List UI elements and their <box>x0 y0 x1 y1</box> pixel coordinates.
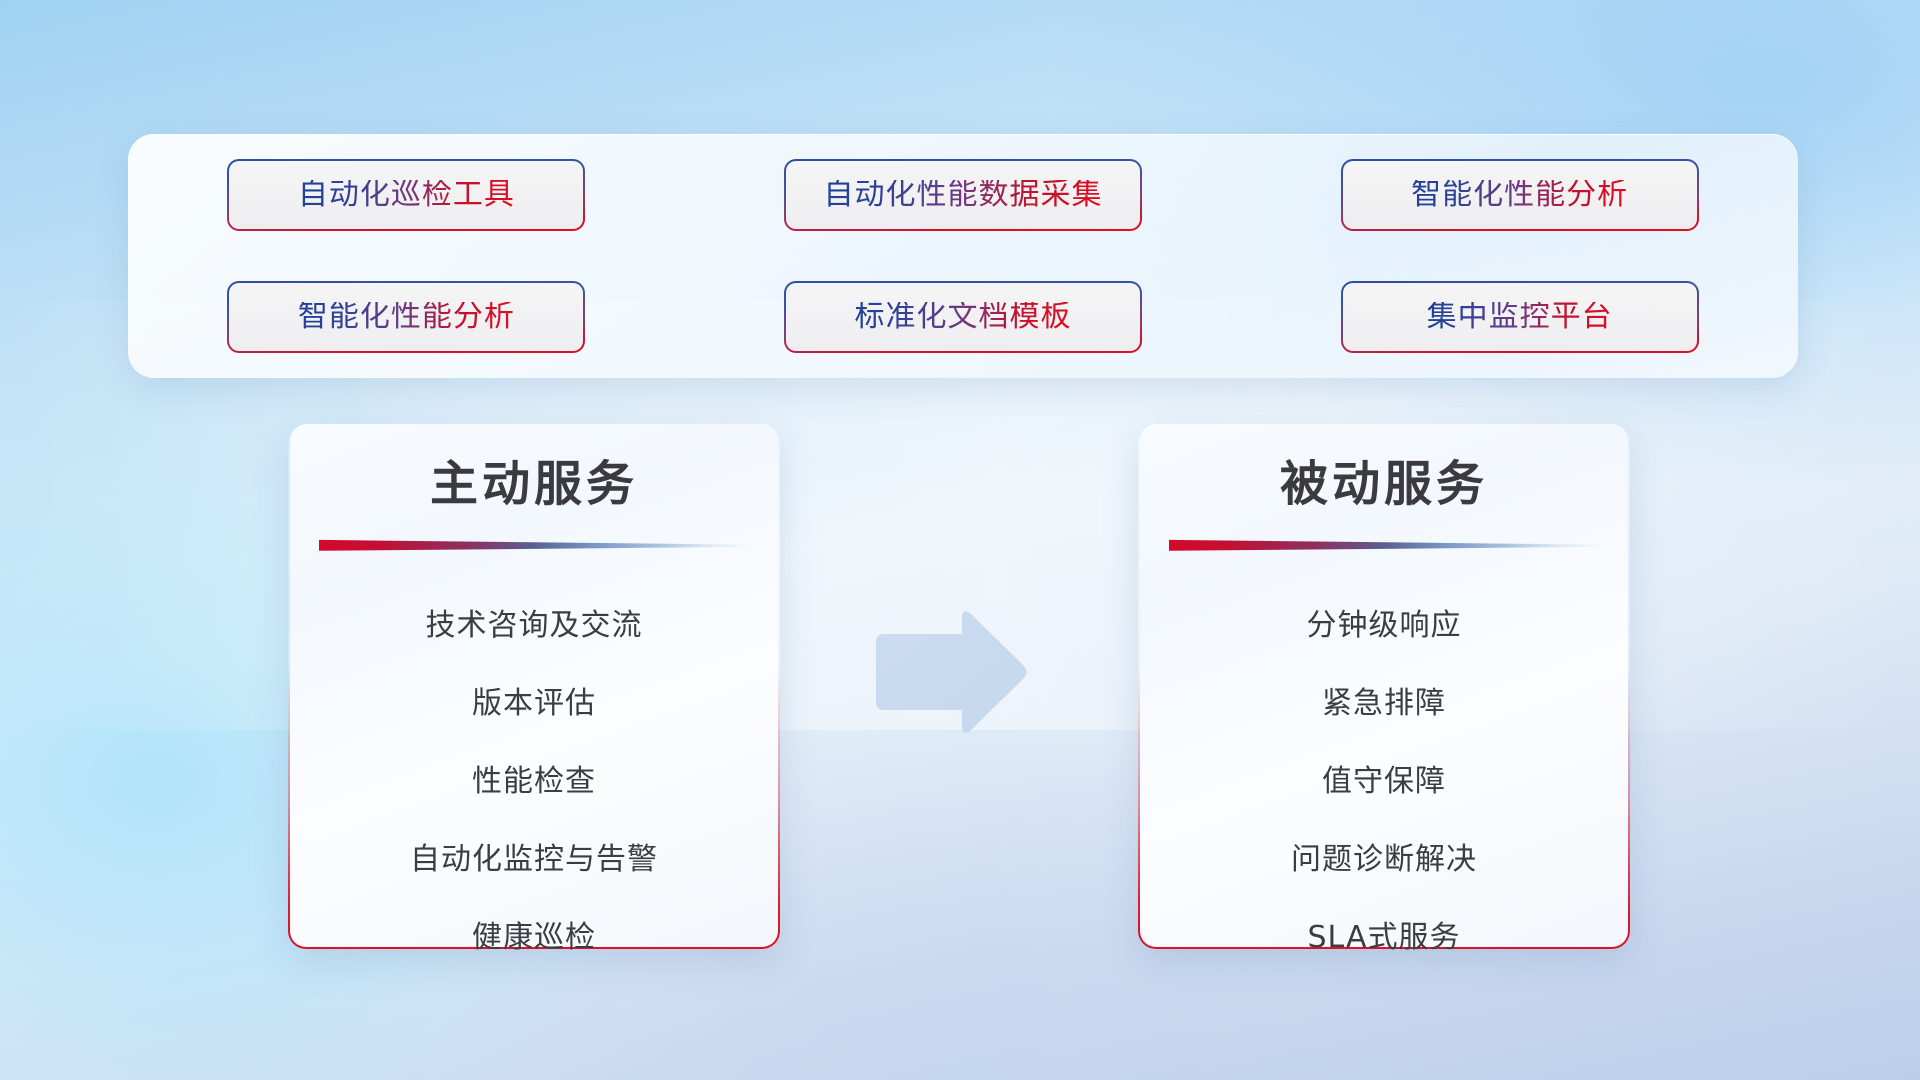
list-item: 自动化监控与告警 <box>290 831 778 889</box>
service-card-reactive: 被动服务 分钟级响应 紧急排障 值守保障 问题诊断解决 SLA式服务 <box>1138 424 1630 949</box>
service-item-list: 技术咨询及交流 版本评估 性能检查 自动化监控与告警 健康巡检 <box>290 597 778 967</box>
service-card-title: 主动服务 <box>290 458 778 511</box>
arrow-right-icon <box>870 608 1030 736</box>
list-item: 技术咨询及交流 <box>290 597 778 655</box>
infographic-stage: 自动化巡检工具 自动化性能数据采集 智能化性能分析 智能化性能分析 标准化文档模… <box>0 0 1920 1080</box>
service-item-list: 分钟级响应 紧急排障 值守保障 问题诊断解决 SLA式服务 <box>1140 597 1628 967</box>
title-divider <box>319 537 749 551</box>
list-item: 问题诊断解决 <box>1140 831 1628 889</box>
service-card-title: 被动服务 <box>1140 458 1628 511</box>
capability-chip-label: 智能化性能分析 <box>298 302 515 332</box>
list-item: 版本评估 <box>290 675 778 733</box>
capability-chip[interactable]: 自动化巡检工具 <box>227 159 585 231</box>
list-item: SLA式服务 <box>1140 909 1628 967</box>
capability-chip[interactable]: 标准化文档模板 <box>784 281 1142 353</box>
capability-chip[interactable]: 自动化性能数据采集 <box>784 159 1142 231</box>
list-item: 性能检查 <box>290 753 778 811</box>
capability-chip-label: 智能化性能分析 <box>1411 180 1628 210</box>
divider-wedge <box>319 537 749 551</box>
service-card-proactive: 主动服务 技术咨询及交流 版本评估 性能检查 自动化监控与告警 健康巡检 <box>288 424 780 949</box>
list-item: 值守保障 <box>1140 753 1628 811</box>
capability-panel: 自动化巡检工具 自动化性能数据采集 智能化性能分析 智能化性能分析 标准化文档模… <box>128 134 1798 378</box>
list-item: 紧急排障 <box>1140 675 1628 733</box>
list-item: 分钟级响应 <box>1140 597 1628 655</box>
capability-chip-label: 自动化性能数据采集 <box>823 180 1102 210</box>
capability-chip[interactable]: 智能化性能分析 <box>227 281 585 353</box>
capability-chip-label: 自动化巡检工具 <box>298 180 515 210</box>
capability-chip[interactable]: 智能化性能分析 <box>1341 159 1699 231</box>
title-divider <box>1169 537 1599 551</box>
capability-chip-label: 集中监控平台 <box>1427 302 1613 332</box>
capability-chip[interactable]: 集中监控平台 <box>1341 281 1699 353</box>
list-item: 健康巡检 <box>290 909 778 967</box>
capability-chip-label: 标准化文档模板 <box>854 302 1071 332</box>
divider-wedge <box>1169 537 1599 551</box>
